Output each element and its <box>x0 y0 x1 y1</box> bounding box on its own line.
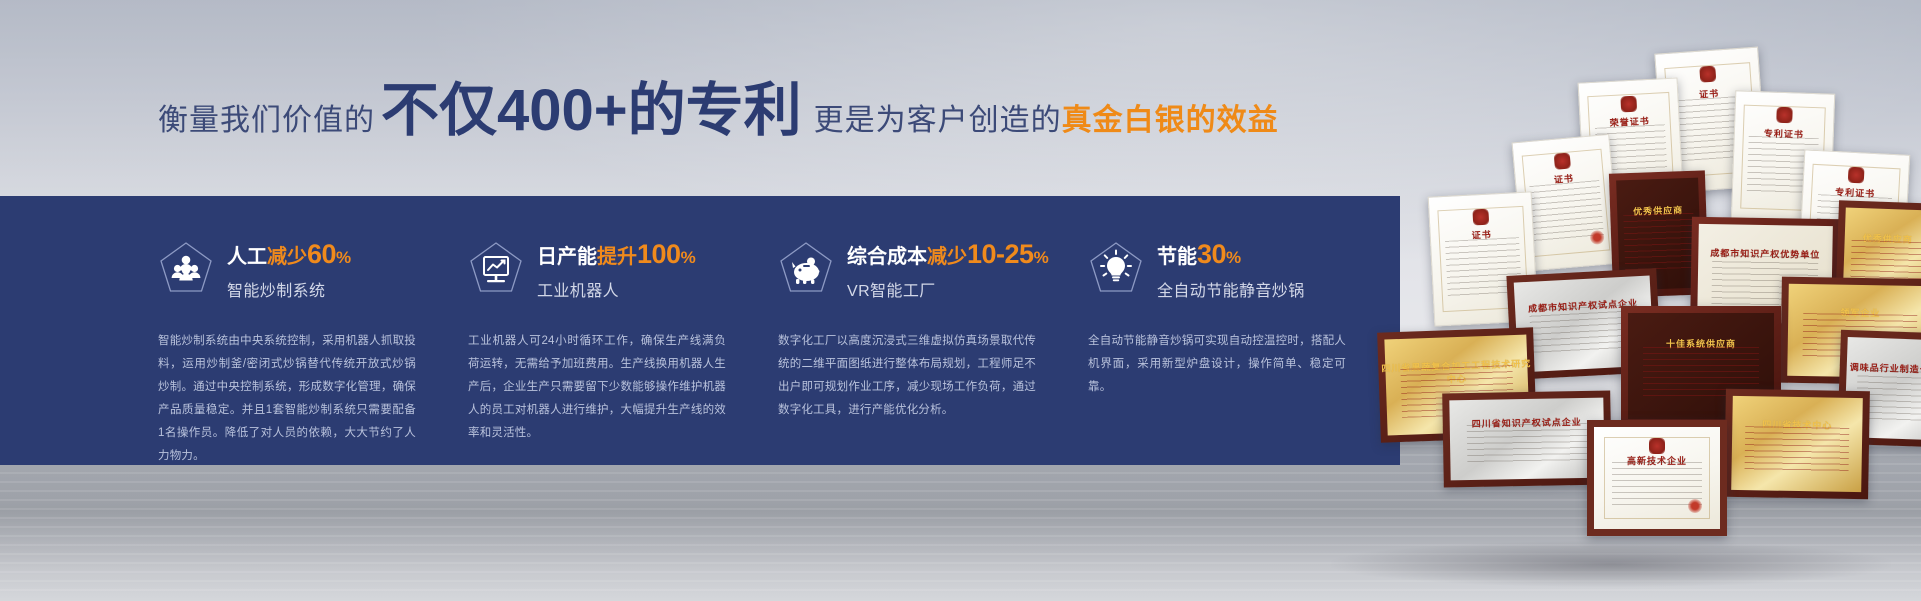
certificate-crest <box>1554 153 1571 170</box>
certificate-lines <box>1711 255 1818 306</box>
feature-title: 日产能提升100% <box>537 240 696 270</box>
banner-stage: 衡量我们价值的 不仅400+的专利 更是为客户创造的 真金白银的效益 <box>0 0 1921 601</box>
feature-subtitle: 全自动节能静音炒锅 <box>1157 277 1305 301</box>
certificate-caption: 调味品行业制造十强企业 <box>1840 359 1921 377</box>
feature-body: 数字化工厂以高度沉浸式三维虚拟仿真场景取代传统的二维平面图纸进行整体布局规划，工… <box>778 330 1036 422</box>
certificate-caption: 领军企业 <box>1781 304 1921 320</box>
certificate-inner <box>1628 313 1774 419</box>
certificate-inner <box>1697 224 1833 324</box>
certificate-caption: 专利证书 <box>1803 183 1908 201</box>
feature-panel: 人工减少60% 智能炒制系统 智能炒制系统由中央系统控制，采用机器人抓取投料，运… <box>0 196 1400 465</box>
feature-subtitle: 智能炒制系统 <box>227 277 351 301</box>
certificate-item: 证书 <box>1512 134 1621 272</box>
feature-title-unit: % <box>336 248 351 267</box>
feature-item-cost[interactable]: 综合成本减少10-25% VR智能工厂 数字化工厂以高度沉浸式三维虚拟仿真场景取… <box>778 196 1060 465</box>
certificate-crest <box>1620 95 1637 112</box>
certificate-lines <box>1815 194 1893 253</box>
piggy-bank-icon <box>778 240 834 296</box>
certificate-caption: 证书 <box>1516 168 1613 189</box>
certificate-inner <box>1449 398 1604 481</box>
certificate-item: 专利证书 <box>1731 90 1836 225</box>
certificate-item: 四川省技术中心 <box>1724 389 1870 499</box>
certificate-item: 调味品行业制造十强企业 <box>1837 330 1921 448</box>
feature-body: 工业机器人可24小时循环工作，确保生产线满负荷运转，无需给予加班费用。生产线换用… <box>468 330 726 445</box>
feature-body: 智能炒制系统由中央系统控制，采用机器人抓取投料，运用炒制釜/密闭式炒锅替代传统开… <box>158 330 416 468</box>
feature-text: 节能30% 全自动节能静音炒锅 <box>1157 238 1305 301</box>
feature-title-number: 60 <box>307 239 336 269</box>
feature-item-labor[interactable]: 人工减少60% 智能炒制系统 智能炒制系统由中央系统控制，采用机器人抓取投料，运… <box>158 196 440 465</box>
headline-accent: 真金白银的效益 <box>1062 95 1279 139</box>
certificate-inner <box>1842 208 1921 313</box>
feature-title-prefix: 人工 <box>227 246 267 268</box>
certificate-inner <box>1731 396 1863 492</box>
certificate-lines <box>1612 462 1703 507</box>
certificate-lines <box>1466 423 1588 466</box>
feature-text: 综合成本减少10-25% VR智能工厂 <box>847 238 1049 301</box>
certificate-seal <box>1654 176 1669 191</box>
certificate-lines <box>1400 365 1514 417</box>
feature-title-prefix: 节能 <box>1157 246 1197 268</box>
certificate-lines <box>1445 237 1521 297</box>
certificate-lines <box>1745 426 1850 475</box>
certificate-seal <box>1736 150 1751 165</box>
feature-list: 人工减少60% 智能炒制系统 智能炒制系统由中央系统控制，采用机器人抓取投料，运… <box>158 196 1400 465</box>
certificate-item: 成都市知识产权试点企业 <box>1506 268 1661 380</box>
feature-title: 节能30% <box>1157 240 1305 270</box>
headline-mid: 更是为客户创造的 <box>814 95 1062 139</box>
certificate-inner <box>1616 178 1702 291</box>
certificate-crest <box>1649 438 1665 454</box>
certificate-inner <box>1844 337 1921 441</box>
feature-title-highlight: 减少 <box>267 246 307 268</box>
certificate-crest <box>1699 66 1716 83</box>
certificate-caption: 证书 <box>1430 226 1533 244</box>
certificate-caption: 成都市知识产权试点企业 <box>1508 295 1658 316</box>
certificate-caption: 证书 <box>1658 83 1761 103</box>
certificate-caption: 四川省知识产权试点企业 <box>1443 415 1611 431</box>
certificate-caption: 十佳系统供应商 <box>1621 337 1781 350</box>
feature-title-unit: % <box>1034 248 1049 267</box>
certificate-item: 荣誉证书 <box>1578 77 1685 216</box>
chart-board-icon <box>468 240 524 296</box>
feature-header: 日产能提升100% 工业机器人 <box>468 238 750 310</box>
certificate-lines <box>1856 369 1921 422</box>
feature-title-number: 30 <box>1197 239 1226 269</box>
feature-subtitle: 工业机器人 <box>537 277 696 301</box>
certificate-crest <box>1848 167 1865 184</box>
feature-item-energy[interactable]: 节能30% 全自动节能静音炒锅 全自动节能静音炒锅可实现自动控温控时，搭配人机界… <box>1088 196 1370 465</box>
feature-text: 人工减少60% 智能炒制系统 <box>227 238 351 301</box>
people-group-icon <box>158 240 214 296</box>
feature-title: 人工减少60% <box>227 240 351 270</box>
feature-header: 节能30% 全自动节能静音炒锅 <box>1088 238 1370 310</box>
certificate-seal <box>1875 246 1890 261</box>
feature-title-prefix: 综合成本 <box>847 246 927 268</box>
certificate-caption: 优秀供应商 <box>1610 203 1706 219</box>
certificate-crest <box>1472 209 1489 226</box>
certificate-lines <box>1673 95 1751 161</box>
certificate-item: 优秀供应商 <box>1835 200 1921 319</box>
feature-title-highlight: 提升 <box>597 246 637 268</box>
certificate-caption: 成都市知识产权优势单位 <box>1691 246 1839 262</box>
certificate-inner <box>1384 335 1529 436</box>
certificate-caption: 高新技术企业 <box>1594 454 1720 467</box>
certificate-seal <box>1589 229 1604 244</box>
certificate-lines <box>1529 305 1639 356</box>
feature-text: 日产能提升100% 工业机器人 <box>537 238 696 301</box>
feature-title-highlight: 减少 <box>927 246 967 268</box>
certificate-seal <box>1688 499 1702 513</box>
feature-subtitle: VR智能工厂 <box>847 277 1049 301</box>
certificate-caption: 四川省果蔬复合加工工程技术研究中心 <box>1378 356 1535 387</box>
feature-body: 全自动节能静音炒锅可实现自动控温控时，搭配人机界面，采用新型炉盘设计，操作简单、… <box>1088 330 1346 399</box>
headline-emphasis: 不仅400+的专利 <box>381 82 802 140</box>
certificate-caption: 四川省技术中心 <box>1725 417 1869 433</box>
certificate-item: 四川省果蔬复合加工工程技术研究中心 <box>1377 327 1537 442</box>
feature-header: 综合成本减少10-25% VR智能工厂 <box>778 238 1060 310</box>
certificate-caption: 荣誉证书 <box>1580 113 1679 131</box>
feature-header: 人工减少60% 智能炒制系统 <box>158 238 440 310</box>
lightbulb-icon <box>1088 240 1144 296</box>
certificate-inner <box>1787 284 1921 378</box>
certificate-item: 高新技术企业 <box>1587 420 1727 536</box>
certificate-lines <box>1643 347 1758 400</box>
certificate-caption: 优秀供应商 <box>1838 230 1921 246</box>
certificate-inner <box>1514 276 1655 373</box>
certificate-wall-shadow <box>1331 541 1891 587</box>
certificate-item: 四川省知识产权试点企业 <box>1442 391 1612 488</box>
headline-lead: 衡量我们价值的 <box>158 95 375 139</box>
certificate-lines <box>1850 240 1921 294</box>
certificate-lines <box>1624 213 1695 270</box>
certificate-item: 领军企业 <box>1780 277 1921 386</box>
feature-title-unit: % <box>1226 248 1241 267</box>
feature-title-unit: % <box>681 248 696 267</box>
certificate-item: 专利证书 <box>1798 149 1911 282</box>
certificate-lines <box>1803 313 1918 362</box>
certificate-item: 成都市知识产权优势单位 <box>1690 217 1840 332</box>
headline: 衡量我们价值的 不仅400+的专利 更是为客户创造的 真金白银的效益 <box>158 82 1279 144</box>
feature-title-number: 10-25 <box>967 239 1034 269</box>
certificate-item: 十佳系统供应商 <box>1621 306 1781 426</box>
certificate-lines <box>1746 136 1819 196</box>
certificate-lines <box>1530 180 1604 242</box>
certificate-lines <box>1595 124 1669 186</box>
certificate-seal <box>1507 287 1522 302</box>
feature-title-number: 100 <box>637 239 681 269</box>
certificate-item: 证书 <box>1654 47 1768 194</box>
feature-title: 综合成本减少10-25% <box>847 240 1049 270</box>
feature-item-capacity[interactable]: 日产能提升100% 工业机器人 工业机器人可24小时循环工作，确保生产线满负荷运… <box>468 196 750 465</box>
certificate-crest <box>1776 107 1793 124</box>
certificate-seal <box>1803 189 1817 203</box>
feature-title-prefix: 日产能 <box>537 246 597 268</box>
certificate-item: 证书 <box>1428 191 1539 326</box>
certificate-caption: 专利证书 <box>1735 125 1833 141</box>
certificate-item: 优秀供应商 <box>1609 170 1709 297</box>
